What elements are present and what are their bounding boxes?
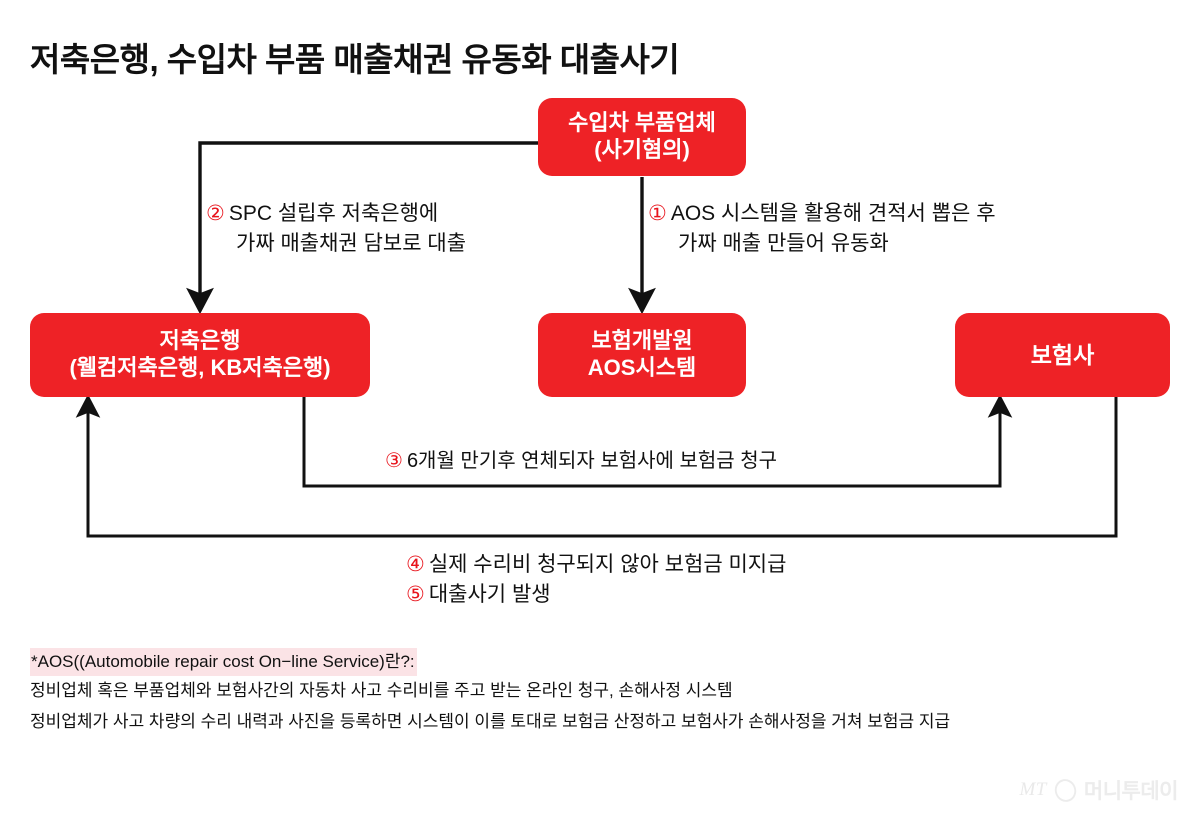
step-2-label: ②SPC 설립후 저축은행에 가짜 매출채권 담보로 대출 bbox=[206, 199, 466, 260]
step-4-number: ④ bbox=[406, 553, 425, 576]
node-insurer-line1: 보험사 bbox=[1031, 341, 1094, 369]
node-parts-company-line1: 수입차 부품업체 bbox=[568, 110, 716, 137]
step-4-label: ④실제 수리비 청구되지 않아 보험금 미지급 bbox=[406, 550, 786, 580]
watermark-brand-name: 머니투데이 bbox=[1084, 775, 1178, 805]
step-1-number: ① bbox=[648, 202, 667, 225]
node-parts-company[interactable]: 수입차 부품업체 (사기혐의) bbox=[538, 98, 746, 176]
step-2-line1: SPC 설립후 저축은행에 bbox=[229, 202, 438, 225]
step-1-line1: AOS 시스템을 활용해 견적서 뽑은 후 bbox=[671, 202, 996, 225]
step-3-label: ③6개월 만기후 연체되자 보험사에 보험금 청구 bbox=[385, 447, 777, 476]
watermark-logo: MT 머니투데이 bbox=[1019, 775, 1178, 805]
node-savings-bank[interactable]: 저축은행 (웰컴저축은행, KB저축은행) bbox=[30, 313, 370, 397]
step-1-line2: 가짜 매출 만들어 유동화 bbox=[648, 229, 996, 259]
node-parts-company-line2: (사기혐의) bbox=[594, 137, 690, 164]
footnote-line-2: 정비업체 혹은 부품업체와 보험사간의 자동차 사고 수리비를 주고 받는 온라… bbox=[30, 676, 1180, 706]
step-5-label: ⑤대출사기 발생 bbox=[406, 580, 786, 610]
watermark-mt-text: MT bbox=[1019, 779, 1046, 801]
footnote-line-3: 정비업체가 사고 차량의 수리 내력과 사진을 등록하면 시스템이 이를 토대로… bbox=[30, 707, 1180, 737]
step-4-line1: 실제 수리비 청구되지 않아 보험금 미지급 bbox=[429, 553, 787, 576]
step-2-line2: 가짜 매출채권 담보로 대출 bbox=[206, 229, 466, 259]
page-title: 저축은행, 수입차 부품 매출채권 유동화 대출사기 bbox=[30, 33, 679, 81]
step-2-number: ② bbox=[206, 202, 225, 225]
ring-icon bbox=[1052, 776, 1080, 805]
node-aos-system-line2: AOS시스템 bbox=[588, 355, 696, 382]
infographic-canvas: 저축은행, 수입차 부품 매출채권 유동화 대출사기 수입차 부품업체 (사기혐… bbox=[0, 0, 1200, 819]
footnote-block: *AOS((Automobile repair cost On−line Ser… bbox=[30, 648, 1180, 737]
step-1-label: ①AOS 시스템을 활용해 견적서 뽑은 후 가짜 매출 만들어 유동화 bbox=[648, 199, 996, 260]
footnote-line-1: *AOS((Automobile repair cost On−line Ser… bbox=[30, 648, 417, 676]
node-aos-system-line1: 보험개발원 bbox=[591, 328, 692, 355]
node-savings-bank-line1: 저축은행 bbox=[160, 328, 241, 355]
step-3-line1: 6개월 만기후 연체되자 보험사에 보험금 청구 bbox=[407, 450, 777, 472]
node-savings-bank-line2: (웰컴저축은행, KB저축은행) bbox=[69, 355, 330, 382]
step-4-5-label-group: ④실제 수리비 청구되지 않아 보험금 미지급 ⑤대출사기 발생 bbox=[406, 550, 786, 611]
step-3-number: ③ bbox=[385, 450, 403, 472]
step-5-line1: 대출사기 발생 bbox=[429, 583, 551, 606]
node-insurer[interactable]: 보험사 bbox=[955, 313, 1170, 397]
step-5-number: ⑤ bbox=[406, 583, 425, 606]
node-aos-system[interactable]: 보험개발원 AOS시스템 bbox=[538, 313, 746, 397]
